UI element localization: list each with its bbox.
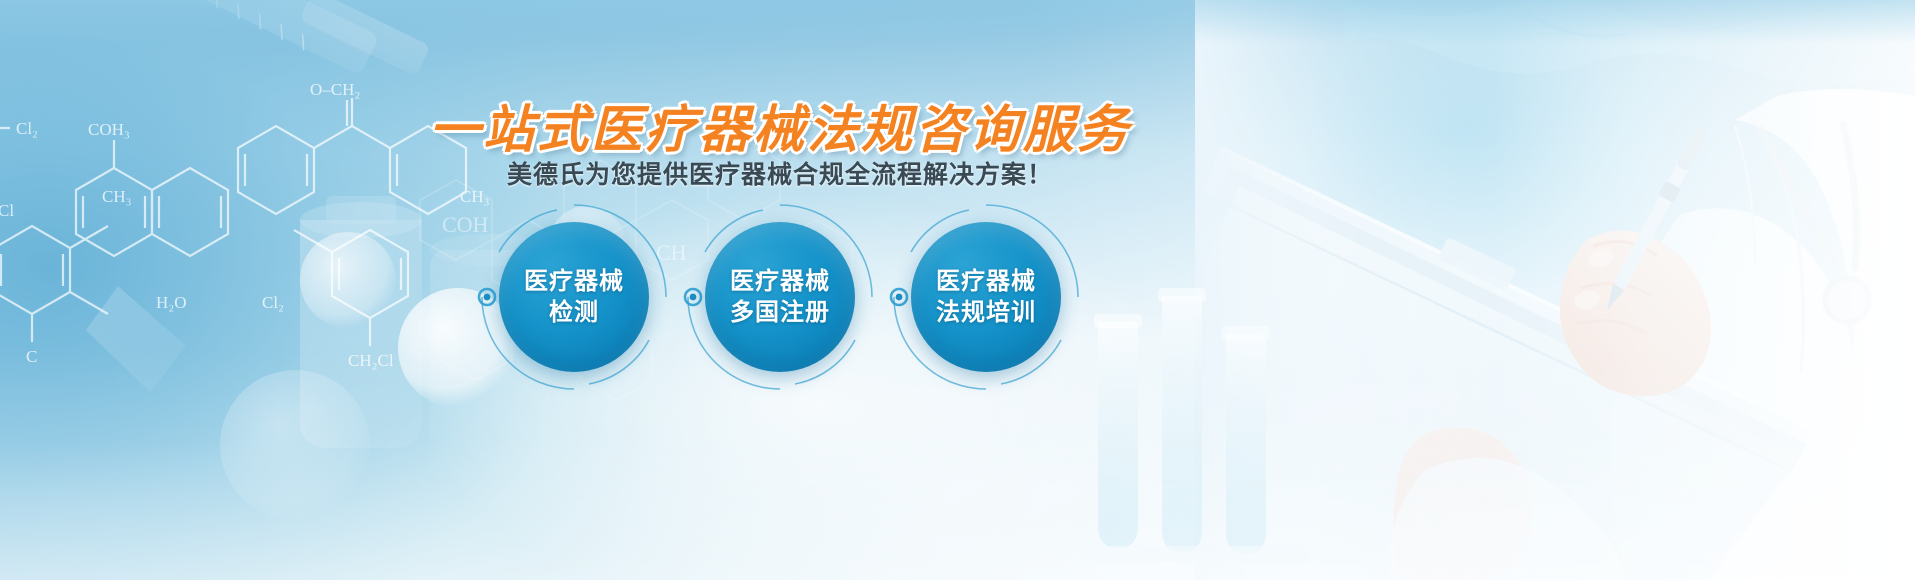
service-circle-detection[interactable]: 医疗器械 检测 — [499, 222, 649, 372]
medical-device-banner: Cl₂ COH₃ O–CH₂ CH₃ H₂O Cl₂ Cl C Cl CH₂Cl… — [0, 0, 1915, 580]
service-circle-unit-2: 医疗器械 多国注册 — [705, 222, 855, 372]
service-circle-unit-1: 医疗器械 检测 — [499, 222, 649, 372]
service-circle-training[interactable]: 医疗器械 法规培训 — [911, 222, 1061, 372]
service-circle-registration[interactable]: 医疗器械 多国注册 — [705, 222, 855, 372]
service-circle-unit-3: 医疗器械 法规培训 — [911, 222, 1061, 372]
service-label-line2: 检测 — [549, 297, 599, 328]
service-label-line1: 医疗器械 — [524, 266, 624, 297]
service-label-line2: 多国注册 — [730, 297, 830, 328]
service-label-line1: 医疗器械 — [936, 266, 1036, 297]
service-circle-group: 医疗器械 检测 医疗器械 多国注册 — [0, 222, 1560, 372]
service-label-line1: 医疗器械 — [730, 266, 830, 297]
service-label-line2: 法规培训 — [936, 297, 1036, 328]
